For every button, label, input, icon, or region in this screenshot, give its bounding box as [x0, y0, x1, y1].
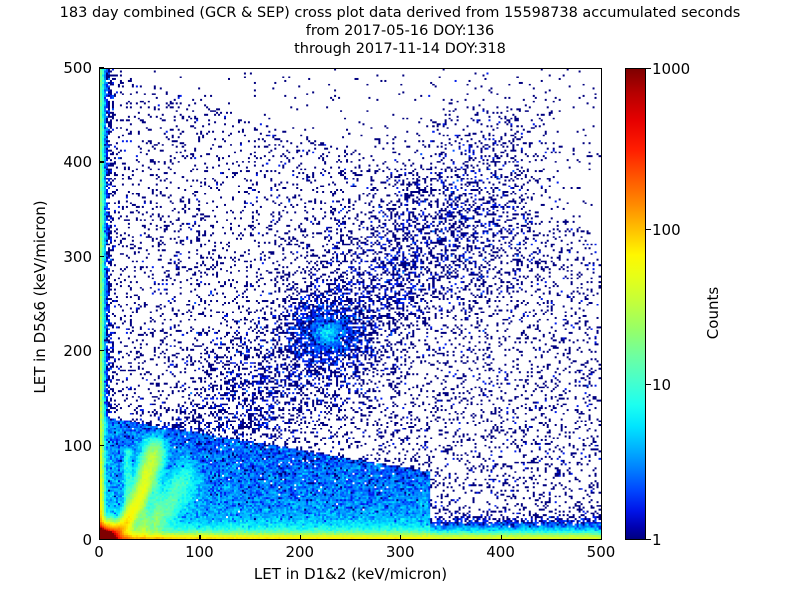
colorbar: [625, 68, 646, 540]
x-tick-200: [300, 535, 301, 540]
x-tick-400: [501, 535, 502, 540]
colorbar-title: Counts: [704, 213, 722, 413]
y-tick-300: [99, 256, 104, 257]
x-ticklabel-500: 500: [566, 543, 636, 561]
colorbar-ticklabel-100: 100: [652, 221, 681, 239]
title-line-1: 183 day combined (GCR & SEP) cross plot …: [0, 4, 800, 22]
title-line-3: through 2017-11-14 DOY:318: [0, 40, 800, 58]
title-line-2: from 2017-05-16 DOY:136: [0, 22, 800, 40]
x-axis-label: LET in D1&2 (keV/micron): [99, 565, 602, 583]
x-ticklabel-400: 400: [466, 543, 536, 561]
y-tick-200: [99, 350, 104, 351]
y-tick-400: [99, 161, 104, 162]
y-axis-label: LET in D5&6 (keV/micron): [31, 127, 49, 467]
figure-title: 183 day combined (GCR & SEP) cross plot …: [0, 4, 800, 58]
y-ticklabel-500: 500: [22, 59, 92, 77]
x-tick-500: [601, 535, 602, 540]
x-tick-100: [199, 535, 200, 540]
x-tick-300: [400, 535, 401, 540]
x-ticklabel-100: 100: [164, 543, 234, 561]
colorbar-ticklabel-10: 10: [652, 376, 671, 394]
colorbar-tick-1: [646, 539, 651, 540]
y-ticklabel-0: 0: [22, 531, 92, 549]
y-tick-0: [99, 539, 104, 540]
colorbar-tick-10: [646, 384, 651, 385]
scatter-density-canvas: [100, 69, 601, 539]
colorbar-ticklabel-1: 1: [652, 531, 662, 549]
plot-area: [99, 68, 602, 540]
y-tick-100: [99, 445, 104, 446]
x-ticklabel-200: 200: [265, 543, 335, 561]
figure-root: 183 day combined (GCR & SEP) cross plot …: [0, 0, 800, 600]
colorbar-ticklabel-1000: 1000: [652, 60, 690, 78]
colorbar-tick-1000: [646, 68, 651, 69]
y-tick-500: [99, 67, 104, 68]
x-ticklabel-300: 300: [365, 543, 435, 561]
colorbar-tick-100: [646, 229, 651, 230]
